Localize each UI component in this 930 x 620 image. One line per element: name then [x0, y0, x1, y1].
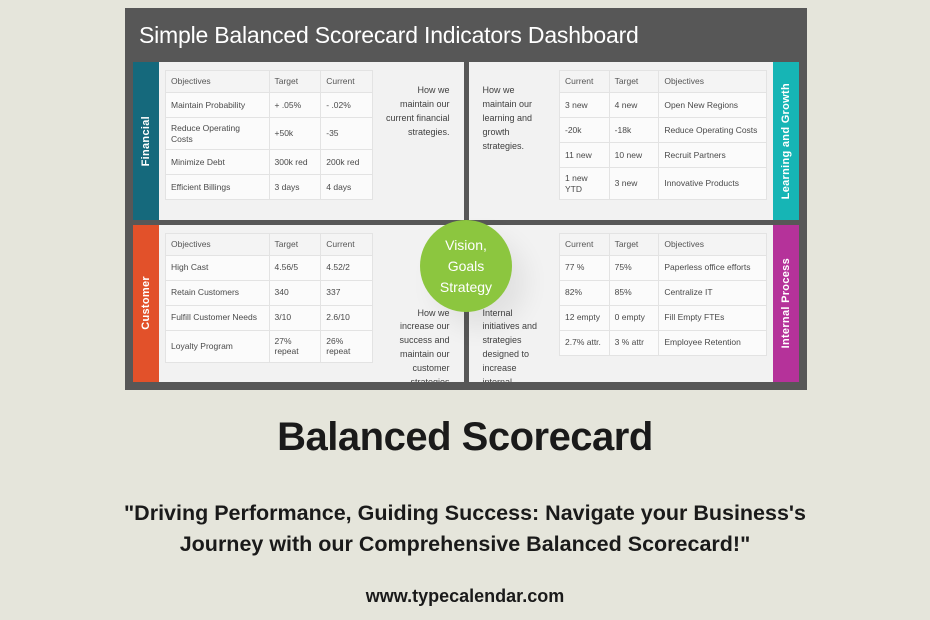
- quadrant-customer-label: Customer: [140, 276, 152, 330]
- quadrant-customer-body: Objectives Target Current High Cast 4.56…: [159, 225, 464, 383]
- table-row[interactable]: Reduce Operating Costs +50k -35: [166, 118, 373, 150]
- col-header: Objectives: [166, 233, 270, 255]
- cell-target: 3 % attr: [609, 330, 659, 355]
- cell-objective: Innovative Products: [659, 168, 767, 200]
- quadrant-internal-process-label: Internal Process: [780, 258, 792, 348]
- cell-target: 340: [269, 280, 321, 305]
- cell-objective: Maintain Probability: [166, 93, 270, 118]
- cell-current: 4 days: [321, 175, 373, 200]
- table-row[interactable]: Efficient Billings 3 days 4 days: [166, 175, 373, 200]
- col-header: Current: [560, 233, 610, 255]
- financial-table[interactable]: Objectives Target Current Maintain Proba…: [165, 70, 373, 200]
- cell-target: 0 empty: [609, 305, 659, 330]
- website-url: www.typecalendar.com: [0, 586, 930, 607]
- quadrant-learning-growth-spine: Learning and Growth: [773, 62, 799, 220]
- quadrant-financial[interactable]: Financial Objectives Target Current Ma: [133, 62, 464, 220]
- cell-target: 4.56/5: [269, 255, 321, 280]
- cell-objective: Employee Retention: [659, 330, 767, 355]
- col-header: Target: [269, 233, 321, 255]
- quadrant-learning-growth-label: Learning and Growth: [780, 83, 792, 199]
- cell-objective: Efficient Billings: [166, 175, 270, 200]
- col-header: Objectives: [659, 71, 767, 93]
- table-row[interactable]: Maintain Probability + .05% - .02%: [166, 93, 373, 118]
- cell-target: -18k: [609, 118, 659, 143]
- cell-objective: Fill Empty FTEs: [659, 305, 767, 330]
- cell-current: 1 new YTD: [560, 168, 610, 200]
- cell-target: 3 days: [269, 175, 321, 200]
- cell-current: -35: [321, 118, 373, 150]
- cell-objective: Reduce Operating Costs: [659, 118, 767, 143]
- cell-target: 10 new: [609, 143, 659, 168]
- table-row[interactable]: 82% 85% Centralize IT: [560, 280, 767, 305]
- table-header-row: Objectives Target Current: [166, 233, 373, 255]
- dashboard-frame: Simple Balanced Scorecard Indicators Das…: [125, 8, 807, 390]
- cell-objective: Open New Regions: [659, 93, 767, 118]
- cell-objective: Centralize IT: [659, 280, 767, 305]
- table-row[interactable]: 11 new 10 new Recruit Partners: [560, 143, 767, 168]
- cell-objective: Reduce Operating Costs: [166, 118, 270, 150]
- tagline-text: "Driving Performance, Guiding Success: N…: [100, 498, 830, 560]
- cell-target: 27% repeat: [269, 330, 321, 362]
- cell-current: 4.52/2: [321, 255, 373, 280]
- cell-objective: Retain Customers: [166, 280, 270, 305]
- col-header: Target: [609, 71, 659, 93]
- table-row[interactable]: 1 new YTD 3 new Innovative Products: [560, 168, 767, 200]
- table-row[interactable]: 77 % 75% Paperless office efforts: [560, 255, 767, 280]
- page-title: Balanced Scorecard: [0, 415, 930, 460]
- vision-line-2: Goals: [448, 256, 485, 277]
- col-header: Current: [560, 71, 610, 93]
- quadrant-learning-growth[interactable]: Learning and Growth Current Target Objec…: [469, 62, 800, 220]
- cell-current: -20k: [560, 118, 610, 143]
- learning-growth-table[interactable]: Current Target Objectives 3 new 4 new Op…: [559, 70, 767, 200]
- cell-target: +50k: [269, 118, 321, 150]
- quadrant-internal-process-body: Current Target Objectives 77 % 75% Paper…: [469, 225, 774, 383]
- cell-current: - .02%: [321, 93, 373, 118]
- cell-current: 3 new: [560, 93, 610, 118]
- cell-target: 75%: [609, 255, 659, 280]
- quadrant-learning-growth-body: Current Target Objectives 3 new 4 new Op…: [469, 62, 774, 220]
- quadrant-customer[interactable]: Customer Objectives Target Current Hig: [133, 225, 464, 383]
- table-row[interactable]: 12 empty 0 empty Fill Empty FTEs: [560, 305, 767, 330]
- table-row[interactable]: 3 new 4 new Open New Regions: [560, 93, 767, 118]
- cell-current: 11 new: [560, 143, 610, 168]
- table-row[interactable]: High Cast 4.56/5 4.52/2: [166, 255, 373, 280]
- cell-current: 77 %: [560, 255, 610, 280]
- col-header: Objectives: [659, 233, 767, 255]
- cell-objective: Fulfill Customer Needs: [166, 305, 270, 330]
- cell-target: 85%: [609, 280, 659, 305]
- cell-objective: Paperless office efforts: [659, 255, 767, 280]
- cell-objective: High Cast: [166, 255, 270, 280]
- customer-table[interactable]: Objectives Target Current High Cast 4.56…: [165, 233, 373, 363]
- cell-current: 200k red: [321, 150, 373, 175]
- cell-current: 26% repeat: [321, 330, 373, 362]
- table-row[interactable]: Retain Customers 340 337: [166, 280, 373, 305]
- cell-target: 300k red: [269, 150, 321, 175]
- table-header-row: Current Target Objectives: [560, 71, 767, 93]
- cell-target: 4 new: [609, 93, 659, 118]
- quadrant-learning-growth-blurb: How we maintain our learning and growth …: [475, 70, 556, 212]
- internal-process-table[interactable]: Current Target Objectives 77 % 75% Paper…: [559, 233, 767, 356]
- col-header: Objectives: [166, 71, 270, 93]
- table-header-row: Objectives Target Current: [166, 71, 373, 93]
- cell-objective: Loyalty Program: [166, 330, 270, 362]
- table-row[interactable]: -20k -18k Reduce Operating Costs: [560, 118, 767, 143]
- quadrant-financial-spine: Financial: [133, 62, 159, 220]
- cell-current: 12 empty: [560, 305, 610, 330]
- col-header: Target: [609, 233, 659, 255]
- cell-target: 3 new: [609, 168, 659, 200]
- cell-objective: Recruit Partners: [659, 143, 767, 168]
- table-row[interactable]: Loyalty Program 27% repeat 26% repeat: [166, 330, 373, 362]
- vision-goals-strategy-circle[interactable]: Vision, Goals Strategy: [420, 220, 512, 312]
- quadrant-financial-blurb: How we maintain our current financial st…: [377, 70, 458, 212]
- col-header: Target: [269, 71, 321, 93]
- cell-current: 2.7% attr.: [560, 330, 610, 355]
- quadrant-financial-body: Objectives Target Current Maintain Proba…: [159, 62, 464, 220]
- table-row[interactable]: 2.7% attr. 3 % attr Employee Retention: [560, 330, 767, 355]
- table-header-row: Current Target Objectives: [560, 233, 767, 255]
- dashboard-title: Simple Balanced Scorecard Indicators Das…: [125, 8, 807, 62]
- quadrant-internal-process-spine: Internal Process: [773, 225, 799, 383]
- table-row[interactable]: Fulfill Customer Needs 3/10 2.6/10: [166, 305, 373, 330]
- col-header: Current: [321, 233, 373, 255]
- vision-line-3: Strategy: [440, 277, 492, 298]
- vision-line-1: Vision,: [445, 235, 487, 256]
- cell-objective: Minimize Debt: [166, 150, 270, 175]
- quadrant-internal-process[interactable]: Internal Process Current Target Objectiv…: [469, 225, 800, 383]
- col-header: Current: [321, 71, 373, 93]
- table-row[interactable]: Minimize Debt 300k red 200k red: [166, 150, 373, 175]
- quadrant-financial-label: Financial: [140, 116, 152, 166]
- cell-current: 2.6/10: [321, 305, 373, 330]
- quadrant-customer-spine: Customer: [133, 225, 159, 383]
- cell-target: 3/10: [269, 305, 321, 330]
- cell-current: 337: [321, 280, 373, 305]
- cell-current: 82%: [560, 280, 610, 305]
- cell-target: + .05%: [269, 93, 321, 118]
